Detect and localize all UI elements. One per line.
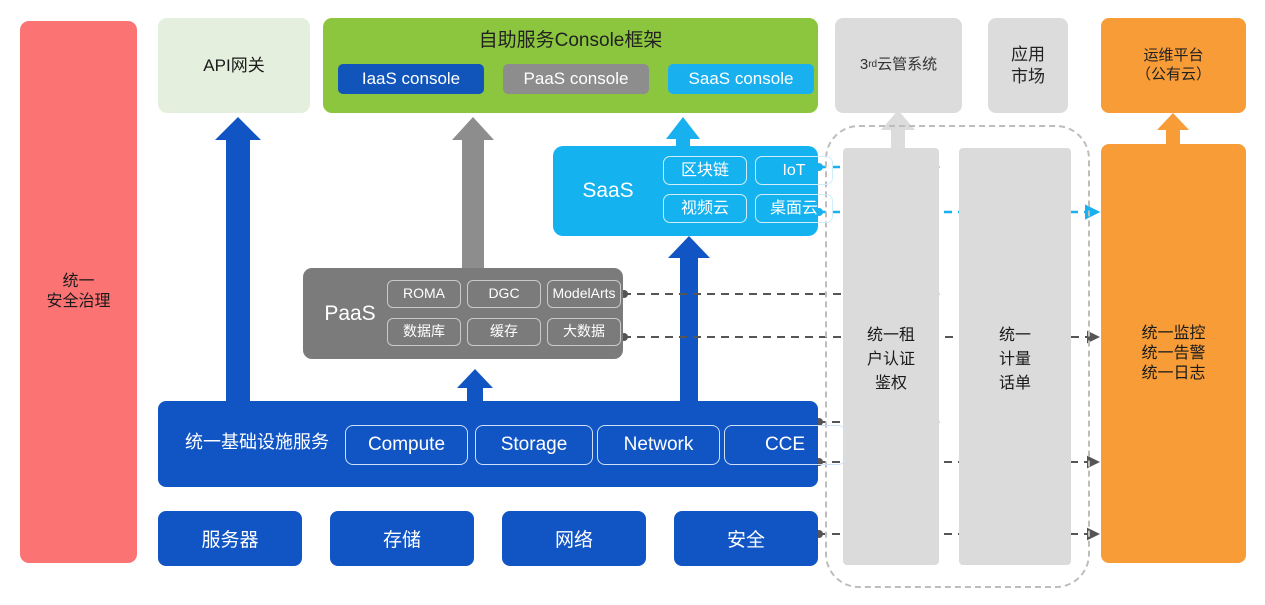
hardware-box-storage[interactable]: 存储 — [330, 511, 474, 566]
console-framework-title: 自助服务Console框架 — [323, 29, 818, 53]
infrastructure-label: 统一基础设施服务 — [172, 431, 342, 454]
saas-chip-video-cloud[interactable]: 视频云 — [663, 194, 747, 223]
unified-infrastructure-service-bar[interactable]: 统一基础设施服务 Compute Storage Network CCE — [158, 401, 818, 487]
third-party-superscript: rd — [868, 59, 877, 72]
infra-chip-storage[interactable]: Storage — [475, 425, 593, 465]
architecture-diagram: 统一租 户认证 鉴权 统一 计量 话单 统一 安全治理 API网关 自助服务Co… — [0, 0, 1265, 605]
saas-console-button[interactable]: SaaS console — [668, 64, 814, 94]
saas-layer[interactable]: SaaS 区块链 IoT 视频云 桌面云 — [553, 146, 818, 236]
arrow-infra-to-paas — [457, 369, 493, 401]
shared-service-auth[interactable]: 统一租 户认证 鉴权 — [843, 148, 939, 565]
ops-platform-monitoring-panel[interactable]: 统一监控 统一告警 统一日志 — [1101, 144, 1246, 563]
saas-chip-desktop-cloud[interactable]: 桌面云 — [755, 194, 833, 223]
hardware-box-server[interactable]: 服务器 — [158, 511, 302, 566]
api-gateway-box[interactable]: API网关 — [158, 18, 310, 113]
paas-chip-modelarts[interactable]: ModelArts — [547, 280, 621, 308]
paas-chip-roma[interactable]: ROMA — [387, 280, 461, 308]
shared-service-metering[interactable]: 统一 计量 话单 — [959, 148, 1071, 565]
paas-chip-bigdata[interactable]: 大数据 — [547, 318, 621, 346]
hardware-box-security[interactable]: 安全 — [674, 511, 818, 566]
arrow-infra-to-apigw — [215, 117, 261, 401]
hardware-box-network[interactable]: 网络 — [502, 511, 646, 566]
unified-security-governance-panel[interactable]: 统一 安全治理 — [20, 21, 137, 563]
infra-chip-cce[interactable]: CCE — [724, 425, 846, 465]
app-market-box[interactable]: 应用 市场 — [988, 18, 1068, 113]
saas-label: SaaS — [565, 178, 651, 204]
arrow-infra-to-saas — [668, 236, 710, 401]
infra-chip-network[interactable]: Network — [597, 425, 720, 465]
self-service-console-framework[interactable]: 自助服务Console框架 IaaS console PaaS console … — [323, 18, 818, 113]
third-party-cloud-management-box[interactable]: 3rd云管系统 — [835, 18, 962, 113]
arrow-to-ops-platform — [1157, 113, 1189, 144]
ops-platform-public-cloud-box[interactable]: 运维平台 （公有云） — [1101, 18, 1246, 113]
paas-chip-database[interactable]: 数据库 — [387, 318, 461, 346]
saas-chip-iot[interactable]: IoT — [755, 156, 833, 185]
arrow-saas-to-console — [666, 117, 700, 146]
iaas-console-button[interactable]: IaaS console — [338, 64, 484, 94]
third-party-prefix: 3 — [860, 56, 868, 75]
third-party-main: 云管系统 — [877, 56, 937, 75]
arrow-paas-to-console — [452, 117, 494, 268]
saas-chip-blockchain[interactable]: 区块链 — [663, 156, 747, 185]
paas-console-button[interactable]: PaaS console — [503, 64, 649, 94]
paas-chip-dgc[interactable]: DGC — [467, 280, 541, 308]
infra-chip-compute[interactable]: Compute — [345, 425, 468, 465]
paas-chip-cache[interactable]: 缓存 — [467, 318, 541, 346]
paas-layer[interactable]: PaaS ROMA DGC ModelArts 数据库 缓存 大数据 — [303, 268, 623, 359]
paas-label: PaaS — [313, 301, 387, 327]
